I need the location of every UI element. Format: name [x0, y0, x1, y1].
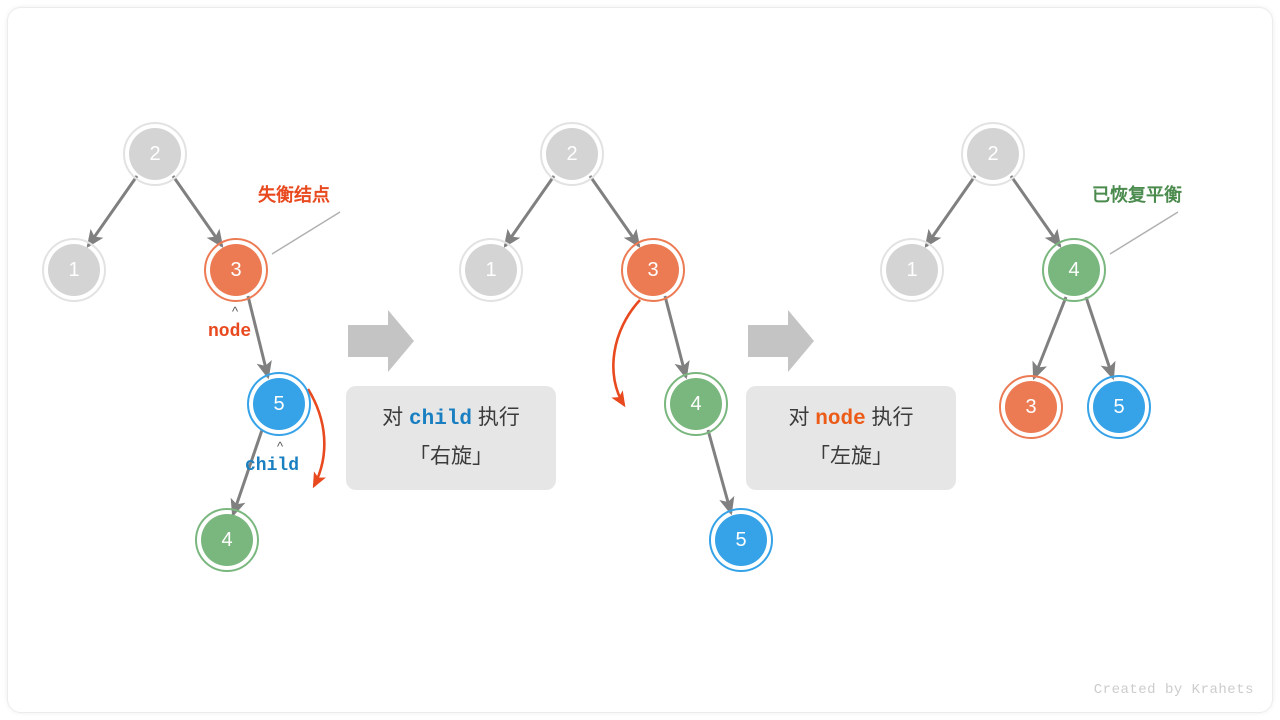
var-label-child: child: [245, 456, 299, 476]
vector-layer: [0, 0, 1280, 720]
node-value: 5: [1113, 397, 1124, 417]
step-line-1: 对 child 执行: [364, 400, 538, 439]
caret-marker-node: ^: [232, 305, 238, 318]
node-value: 1: [485, 260, 496, 280]
node-value: 4: [221, 530, 232, 550]
leader-line-unbalanced: [272, 212, 340, 254]
node-value: 3: [1025, 397, 1036, 417]
leader-line-balanced: [1110, 212, 1178, 254]
tree-node[interactable]: 1: [48, 244, 100, 296]
tree-node[interactable]: 5: [253, 378, 305, 430]
node-value: 5: [273, 394, 284, 414]
step-line-2: 「右旋」: [364, 439, 538, 476]
step-prefix: 对: [382, 406, 403, 429]
step-target: child: [409, 408, 472, 431]
tree-node[interactable]: 1: [465, 244, 517, 296]
node-value: 1: [906, 260, 917, 280]
tree-node[interactable]: 3: [210, 244, 262, 296]
step-arrow-2: [748, 310, 814, 372]
step-prefix: 对: [788, 406, 809, 429]
tree-node[interactable]: 3: [627, 244, 679, 296]
credit-text: Created by Krahets: [1094, 682, 1254, 698]
tree-node[interactable]: 4: [201, 514, 253, 566]
tree-node[interactable]: 2: [967, 128, 1019, 180]
step-line-2: 「左旋」: [764, 439, 938, 476]
step-left-rotation-box: 对 node 执行 「左旋」: [746, 386, 956, 490]
tree-node[interactable]: 2: [129, 128, 181, 180]
panel-1-edges: [88, 176, 268, 515]
node-value: 1: [68, 260, 79, 280]
node-value: 2: [566, 144, 577, 164]
tree-node[interactable]: 2: [546, 128, 598, 180]
figure-canvas: 2 1 3 5 4 失衡结点 ^ node ^ child 对 child 执行: [0, 0, 1280, 720]
tree-node[interactable]: 1: [886, 244, 938, 296]
rotation-arrow-left: [613, 300, 640, 405]
var-label-node: node: [208, 322, 251, 342]
step-line-1: 对 node 执行: [764, 400, 938, 439]
node-value: 4: [1068, 260, 1079, 280]
caret-marker-child: ^: [277, 440, 283, 453]
step-target: node: [815, 408, 865, 431]
node-value: 3: [647, 260, 658, 280]
annotation-unbalanced-node: 失衡结点: [258, 181, 330, 207]
tree-node[interactable]: 4: [670, 378, 722, 430]
annotation-balanced: 已恢复平衡: [1092, 181, 1182, 207]
tree-node[interactable]: 5: [1093, 381, 1145, 433]
node-value: 3: [230, 260, 241, 280]
tree-node[interactable]: 5: [715, 514, 767, 566]
step-arrow-1: [348, 310, 414, 372]
node-value: 2: [149, 144, 160, 164]
node-value: 2: [987, 144, 998, 164]
step-right-rotation-box: 对 child 执行 「右旋」: [346, 386, 556, 490]
step-suffix: 执行: [478, 406, 520, 429]
node-value: 5: [735, 530, 746, 550]
node-value: 4: [690, 394, 701, 414]
tree-node[interactable]: 3: [1005, 381, 1057, 433]
tree-node[interactable]: 4: [1048, 244, 1100, 296]
step-suffix: 执行: [872, 406, 914, 429]
